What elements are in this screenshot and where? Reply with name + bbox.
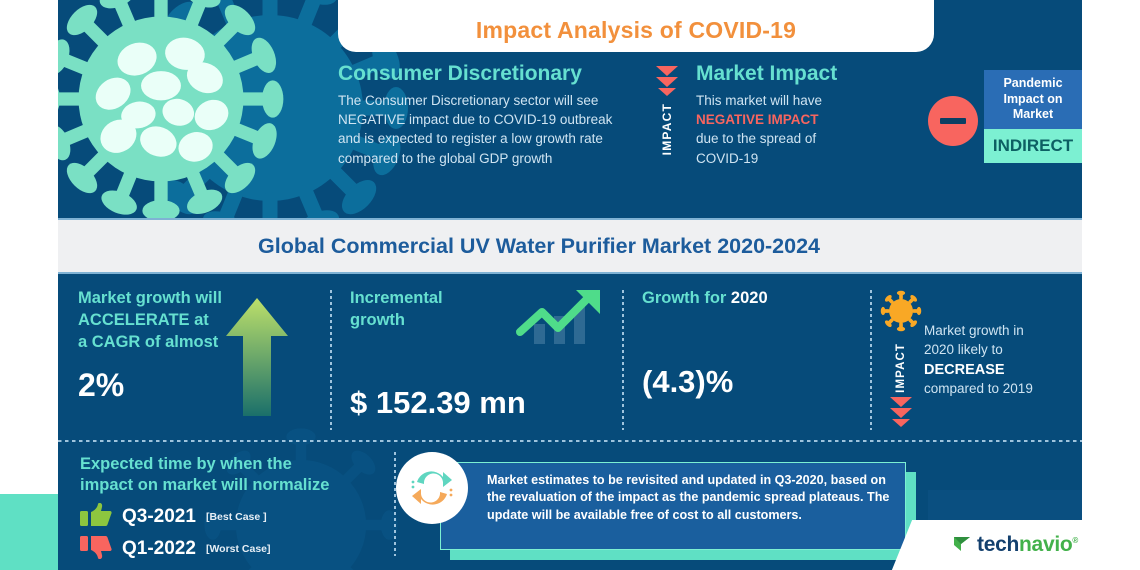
chevron-down-icon bbox=[656, 66, 678, 96]
right-margin bbox=[1082, 0, 1140, 570]
pandemic-impact-badge: Pandemic Impact on Market INDIRECT bbox=[928, 62, 1082, 212]
market-impact-section: Market Impact This market will have NEGA… bbox=[696, 62, 928, 212]
cagr-value: 2% bbox=[78, 367, 222, 404]
note-box: Market estimates to be revisited and upd… bbox=[440, 462, 906, 550]
market-impact-line1: This market will have bbox=[696, 91, 928, 110]
navy-corner-block bbox=[928, 490, 1082, 520]
growth-2020-label: Growth for 2020 bbox=[642, 288, 854, 310]
market-impact-heading: Market Impact bbox=[696, 62, 928, 85]
worst-case-quarter: Q1-2022 bbox=[122, 538, 196, 560]
header-card: Impact Analysis of COVID-19 bbox=[338, 0, 934, 52]
report-title: Global Commercial UV Water Purifier Mark… bbox=[258, 234, 820, 259]
horizontal-divider bbox=[58, 440, 1082, 442]
growth-chart-icon bbox=[514, 288, 606, 351]
growth-2020-value: (4.3)% bbox=[642, 364, 854, 400]
incremental-value: $ 152.39 mn bbox=[350, 385, 606, 421]
market-impact-negative: NEGATIVE IMPACT bbox=[696, 110, 928, 129]
virus-icon bbox=[878, 288, 924, 339]
market-impact-line3: due to the spread of bbox=[696, 129, 928, 148]
stat-cagr: Market growth willACCELERATE ata CAGR of… bbox=[58, 284, 330, 434]
thumbs-up-icon bbox=[80, 503, 112, 532]
chevron-down-icon-decrease bbox=[890, 397, 912, 427]
consumer-body: The Consumer Discretionary sector will s… bbox=[338, 91, 632, 168]
best-case-row: Q3-2021 [Best Case ] bbox=[80, 503, 386, 532]
normalize-heading: Expected time by when theimpact on marke… bbox=[80, 454, 386, 497]
thumbs-down-icon bbox=[80, 535, 112, 564]
worst-case-row: Q1-2022 [Worst Case] bbox=[80, 535, 386, 564]
left-margin bbox=[0, 0, 58, 570]
stat-growth-2020: Growth for 2020 (4.3)% bbox=[622, 284, 870, 434]
decrease-line2: 2020 likely to bbox=[924, 341, 1066, 360]
pandemic-badge-value: INDIRECT bbox=[984, 129, 1082, 163]
consumer-discretionary-section: Consumer Discretionary The Consumer Disc… bbox=[338, 62, 638, 212]
covid-impact-infographic: Impact Analysis of COVID-19 Consumer Dis… bbox=[0, 0, 1140, 570]
logo-text-tech: tech bbox=[977, 533, 1019, 556]
cagr-label: Market growth willACCELERATE ata CAGR of… bbox=[78, 288, 222, 353]
stats-row: Market growth willACCELERATE ata CAGR of… bbox=[58, 284, 1082, 434]
best-case-tag: [Best Case ] bbox=[206, 511, 267, 523]
technavio-logo: technavio® bbox=[928, 520, 1140, 570]
worst-case-tag: [Worst Case] bbox=[206, 543, 271, 555]
prohibition-icon bbox=[928, 96, 978, 146]
virus-graphic-front bbox=[28, 0, 294, 232]
decrease-line1: Market growth in bbox=[924, 322, 1066, 341]
refresh-cycle-icon bbox=[396, 452, 468, 524]
logo-text-navio: navio bbox=[1019, 533, 1072, 556]
top-content: Consumer Discretionary The Consumer Disc… bbox=[338, 62, 1082, 212]
pandemic-badge-title: Pandemic Impact on Market bbox=[984, 70, 1082, 129]
technavio-flag-icon bbox=[952, 533, 972, 558]
logo-trademark: ® bbox=[1072, 536, 1078, 545]
impact-label-vertical: IMPACT bbox=[660, 103, 674, 155]
incremental-label: Incrementalgrowth bbox=[350, 288, 443, 332]
up-arrow-icon bbox=[226, 298, 288, 421]
report-title-band: Global Commercial UV Water Purifier Mark… bbox=[0, 218, 1140, 274]
impact-indicator-top: IMPACT bbox=[638, 62, 696, 212]
normalize-section: Expected time by when theimpact on marke… bbox=[58, 450, 396, 562]
decrease-line3: compared to 2019 bbox=[924, 380, 1066, 399]
consumer-heading: Consumer Discretionary bbox=[338, 62, 632, 85]
teal-accent-strip bbox=[0, 494, 58, 570]
stat-decrease: IMPACT Market growth in 2020 likely to D… bbox=[870, 284, 1082, 434]
decrease-strong: DECREASE bbox=[924, 360, 1066, 380]
market-impact-line4: COVID-19 bbox=[696, 149, 928, 168]
note-text: Market estimates to be revisited and upd… bbox=[487, 472, 893, 524]
best-case-quarter: Q3-2021 bbox=[122, 506, 196, 528]
impact-label-vertical-decrease: IMPACT bbox=[895, 343, 907, 393]
stat-incremental-growth: Incrementalgrowth $ 152.39 mn bbox=[330, 284, 622, 434]
page-title: Impact Analysis of COVID-19 bbox=[476, 17, 796, 44]
